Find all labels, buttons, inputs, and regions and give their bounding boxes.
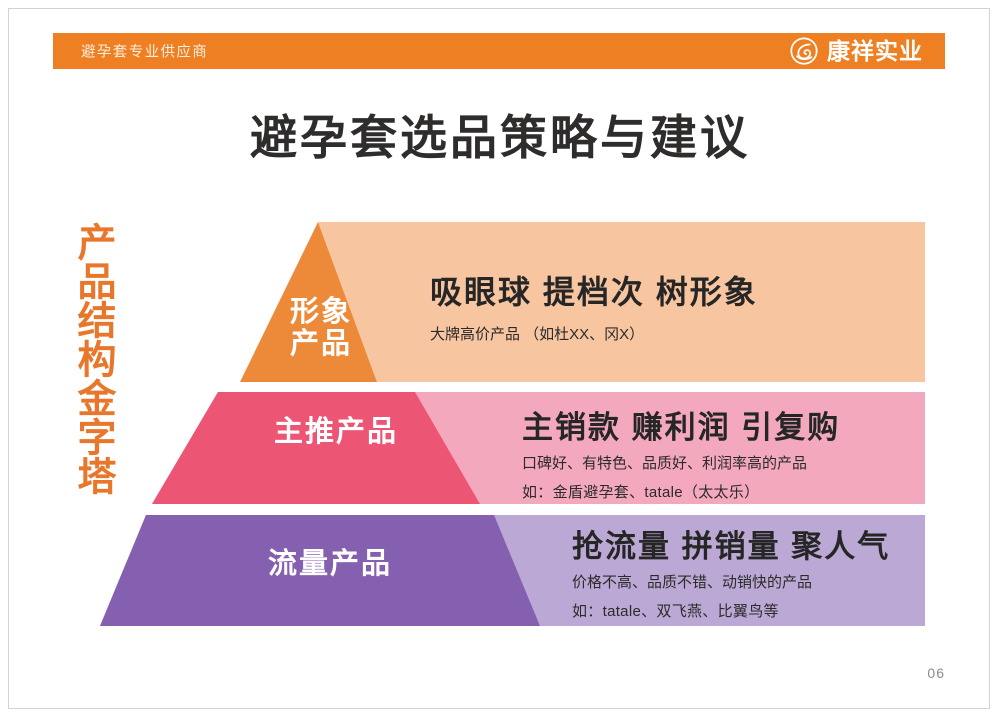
tier-3-content: 抢流量 拼销量 聚人气 价格不高、品质不错、动销快的产品 如：tatale、双飞…: [572, 528, 890, 624]
tier-3-headline: 抢流量 拼销量 聚人气: [572, 528, 890, 565]
brand-logo: 康祥实业: [790, 37, 923, 65]
leaf-swirl-logo-icon: [790, 37, 818, 65]
tier-1-detail-line: 大牌高价产品 （如杜XX、冈X）: [430, 323, 758, 346]
tier-3-detail-line: 价格不高、品质不错、动销快的产品: [572, 571, 890, 594]
page-title: 避孕套选品策略与建议: [0, 112, 1000, 165]
tier-2-detail-line: 口碑好、有特色、品质好、利润率高的产品: [522, 452, 840, 475]
tier-2-example-line: 如：金盾避孕套、tatale（太太乐）: [522, 481, 840, 504]
slide: 避孕套专业供应商 康祥实业 避孕套选品策略与建议 产品结构金字塔: [0, 0, 1000, 719]
tier-3-example-line: 如：tatale、双飞燕、比翼鸟等: [572, 600, 890, 623]
tier-2-content: 主销款 赚利润 引复购 口碑好、有特色、品质好、利润率高的产品 如：金盾避孕套、…: [522, 409, 840, 505]
header-bar: 避孕套专业供应商 康祥实业: [53, 33, 945, 69]
tier-1-content: 吸眼球 提档次 树形象 大牌高价产品 （如杜XX、冈X）: [430, 273, 758, 347]
side-label-product-structure-pyramid: 产品结构金字塔: [58, 222, 114, 495]
header-tagline: 避孕套专业供应商: [81, 41, 208, 62]
tier-2-shape-label: 主推产品: [238, 416, 434, 448]
tier-3-shape-label: 流量产品: [232, 548, 428, 580]
page-number: 06: [927, 665, 945, 681]
tier-1-headline: 吸眼球 提档次 树形象: [430, 273, 758, 311]
tier-1-shape-label: 形象 产品: [262, 296, 380, 361]
tier-2-headline: 主销款 赚利润 引复购: [522, 409, 840, 446]
brand-name: 康祥实业: [827, 40, 923, 63]
